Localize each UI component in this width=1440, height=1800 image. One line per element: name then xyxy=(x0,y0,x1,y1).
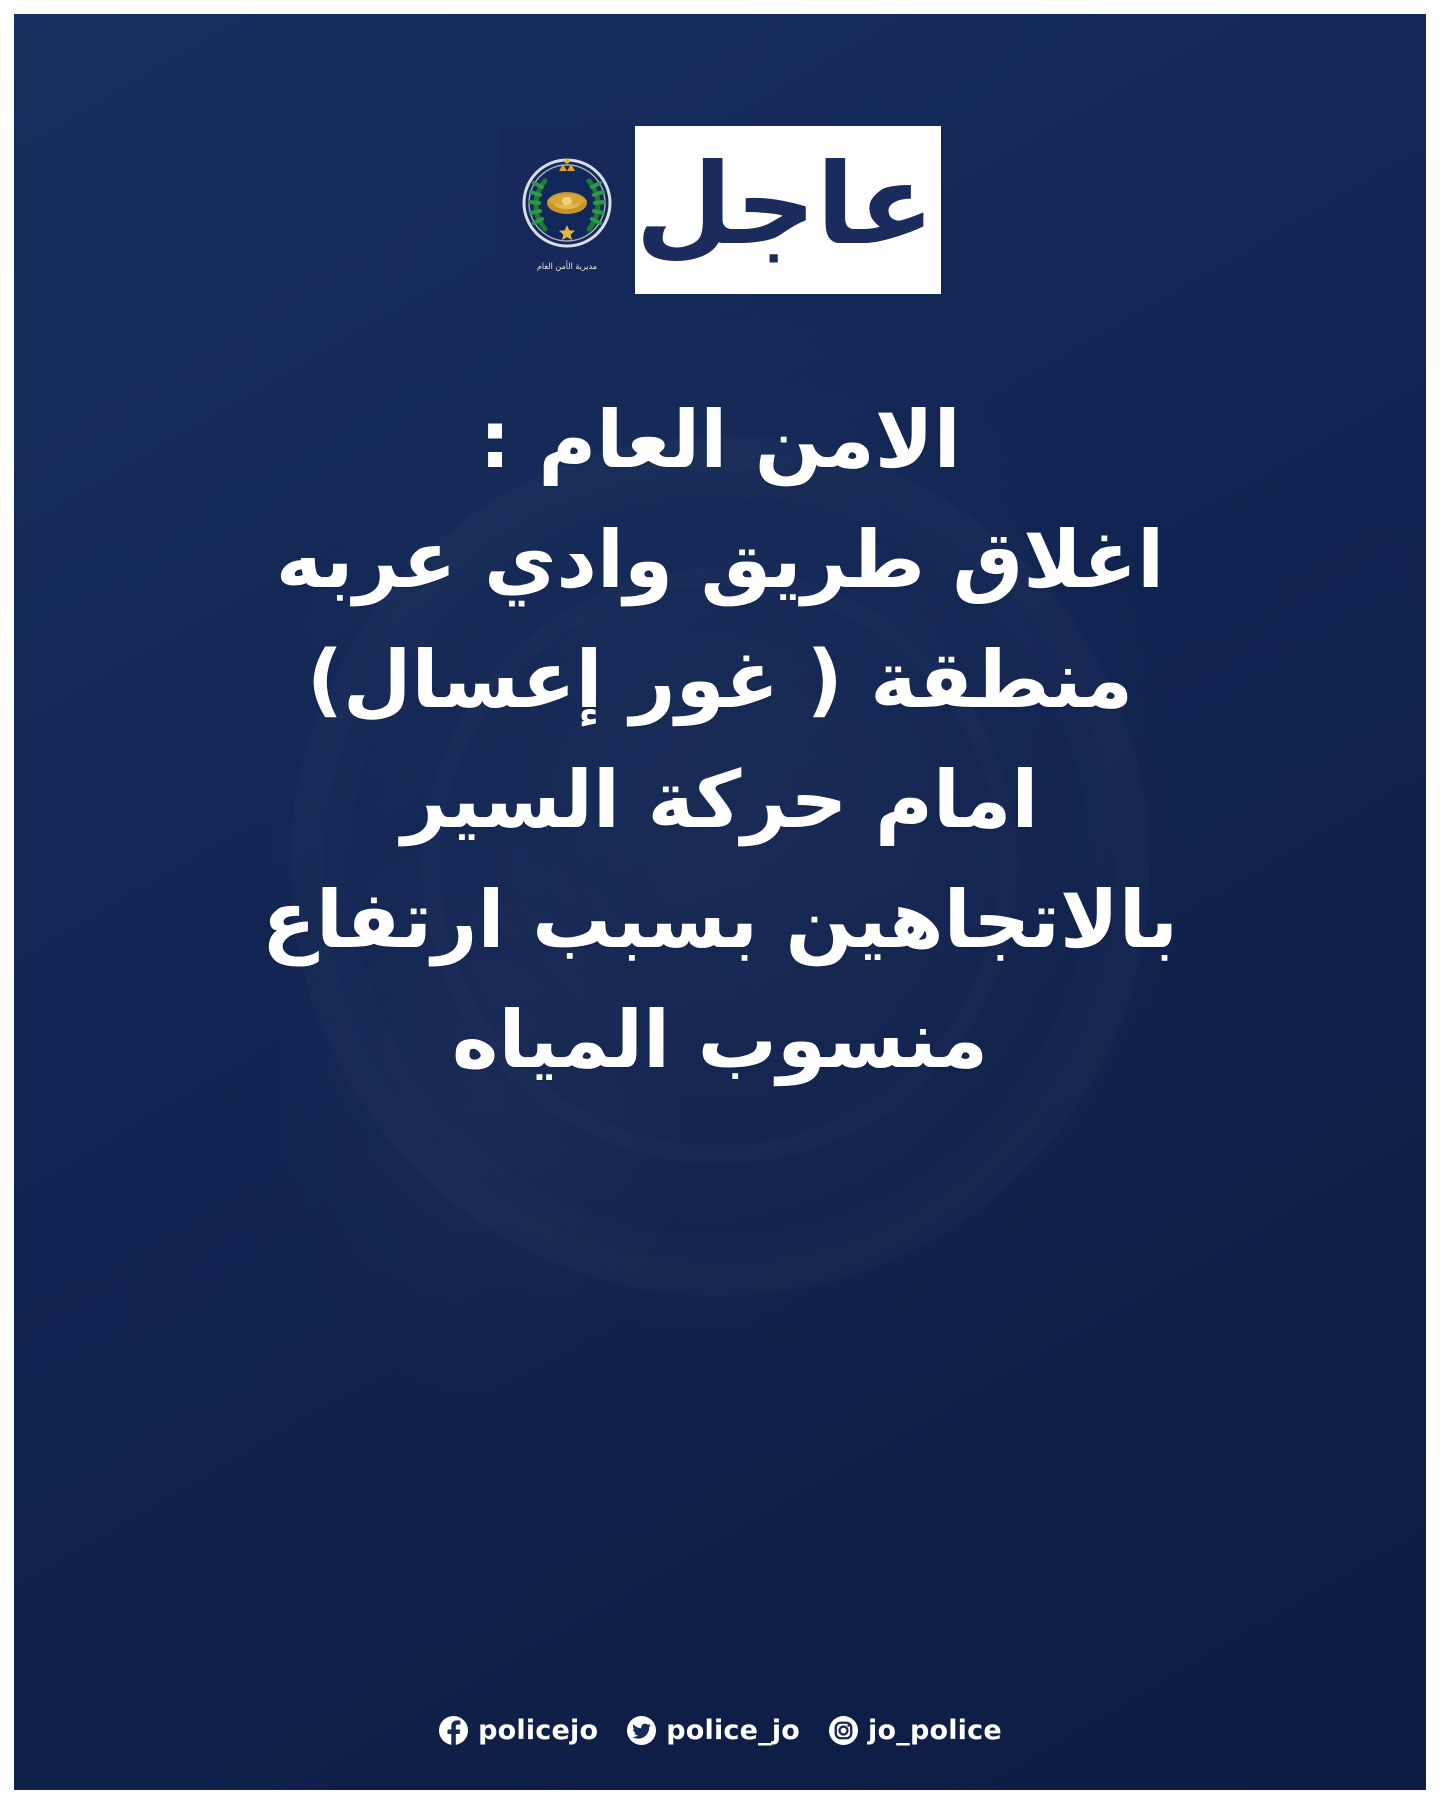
urgent-label: عاجل xyxy=(635,126,941,294)
social-account-instagram[interactable]: jo_police xyxy=(828,1715,1002,1746)
twitter-icon xyxy=(626,1715,657,1746)
announcement-line-1: الامن العام : xyxy=(125,380,1315,500)
announcement-line-6: منسوب المياه xyxy=(125,980,1315,1100)
social-media-bar: policejo police_jo xyxy=(14,1715,1426,1746)
announcement-line-4: امام حركة السير xyxy=(125,740,1315,860)
social-account-twitter[interactable]: police_jo xyxy=(626,1715,800,1746)
facebook-icon xyxy=(438,1715,469,1746)
twitter-handle: police_jo xyxy=(666,1717,800,1744)
urgent-banner: عاجل xyxy=(499,126,941,294)
instagram-handle: jo_police xyxy=(868,1717,1002,1744)
announcement-line-5: بالاتجاهين بسبب ارتفاع xyxy=(125,860,1315,980)
public-security-emblem-icon xyxy=(515,151,619,261)
instagram-icon xyxy=(828,1715,859,1746)
announcement-text: الامن العام : اغلاق طريق وادي عربه منطقة… xyxy=(125,380,1315,1100)
social-account-facebook[interactable]: policejo xyxy=(438,1715,598,1746)
facebook-handle: policejo xyxy=(478,1717,598,1744)
poster-canvas: عاجل xyxy=(14,14,1426,1790)
announcement-line-3: منطقة ( غور إعسال) xyxy=(125,620,1315,740)
emblem-caption: مديرية الأمن العام xyxy=(537,262,597,271)
emblem-container: مديرية الأمن العام xyxy=(499,126,635,294)
announcement-line-2: اغلاق طريق وادي عربه xyxy=(125,500,1315,620)
poster-root: عاجل xyxy=(0,0,1440,1800)
